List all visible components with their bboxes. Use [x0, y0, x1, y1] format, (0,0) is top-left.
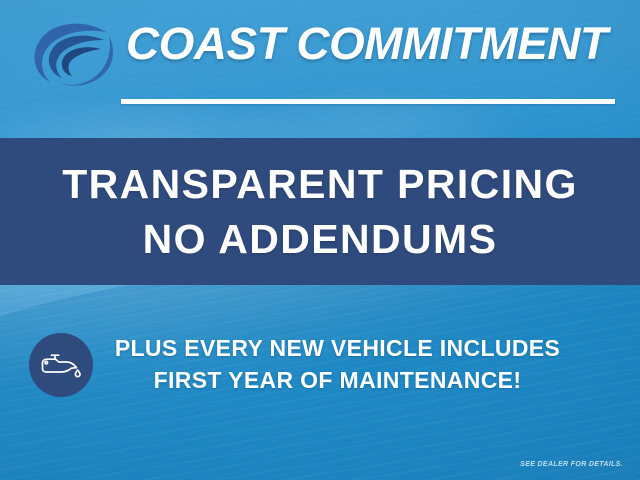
oil-can-icon — [39, 350, 83, 380]
headline-band: TRANSPARENT PRICING NO ADDENDUMS — [0, 138, 640, 285]
brand-title: COAST COMMITMENT — [126, 21, 607, 66]
coast-commitment-promo-banner: COAST COMMITMENT TRANSPARENT PRICING NO … — [0, 0, 640, 480]
promo-line-1: PLUS EVERY NEW VEHICLE INCLUDES — [93, 333, 582, 365]
maintenance-promo: PLUS EVERY NEW VEHICLE INCLUDES FIRST YE… — [0, 325, 640, 405]
promo-line-2: FIRST YEAR OF MAINTENANCE! — [93, 365, 582, 397]
headline-line-1: TRANSPARENT PRICING — [62, 157, 578, 211]
oil-can-icon-badge — [29, 333, 93, 397]
coast-wave-swirl-logo-icon — [26, 16, 118, 92]
banner-header: COAST COMMITMENT — [0, 0, 640, 118]
headline-line-2: NO ADDENDUMS — [143, 212, 498, 266]
disclaimer-text: SEE DEALER FOR DETAILS. — [520, 461, 623, 468]
header-divider — [121, 99, 615, 104]
promo-copy: PLUS EVERY NEW VEHICLE INCLUDES FIRST YE… — [93, 333, 640, 396]
